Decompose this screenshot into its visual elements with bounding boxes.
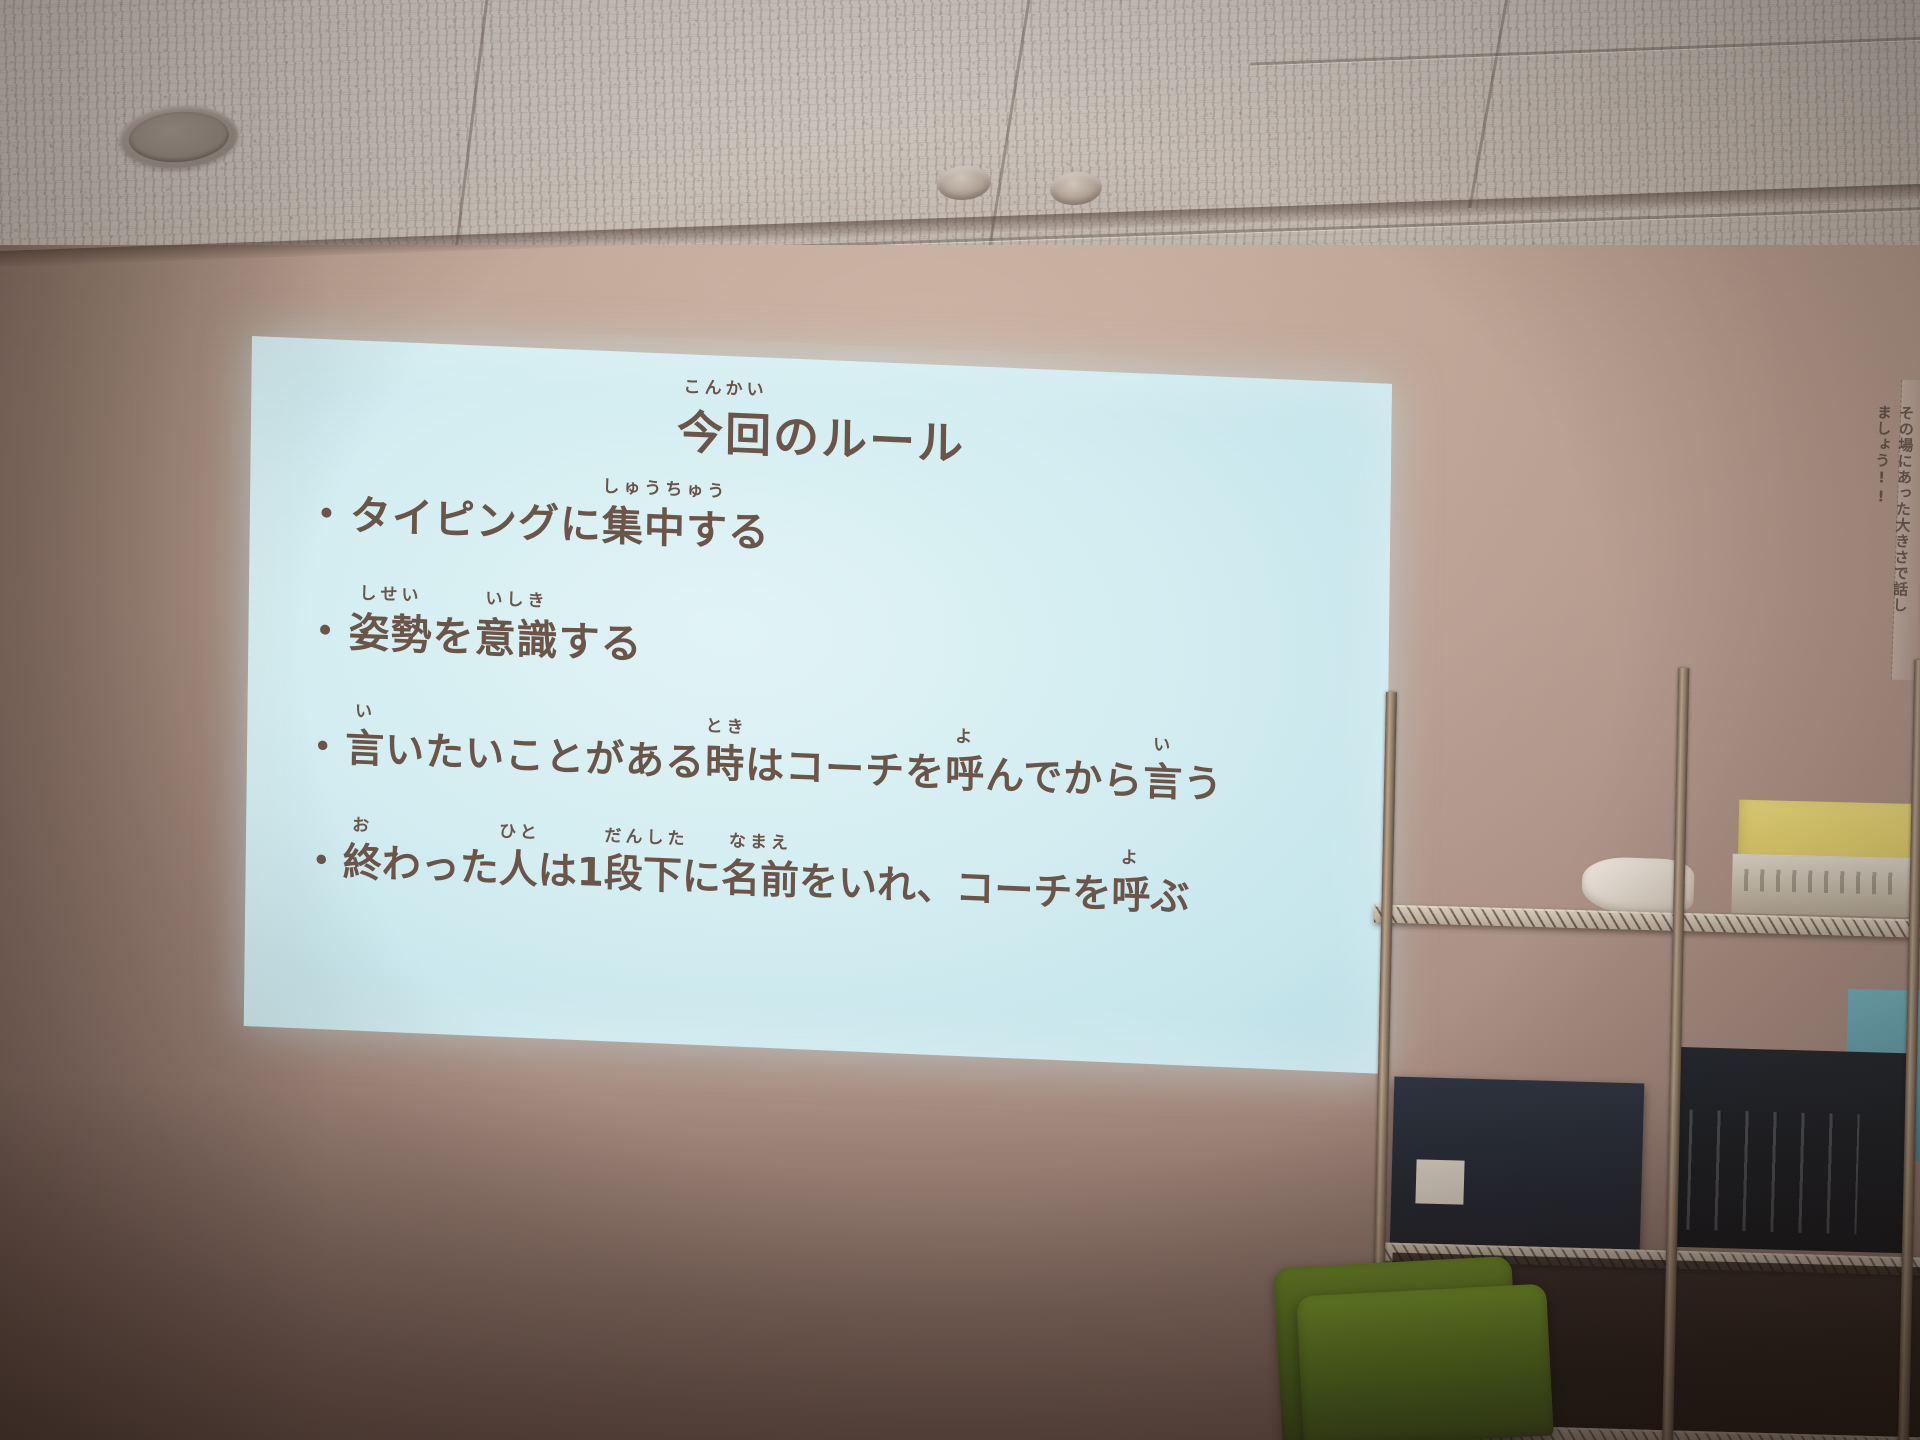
bullet-1-ruby-group: しゅうちゅう集中 bbox=[602, 501, 687, 556]
bullet-2-seg-3: する bbox=[558, 617, 643, 669]
bullet-4-seg-9: ぶ bbox=[1150, 874, 1190, 921]
bullet-3-ruby-group-d: い言 bbox=[1143, 758, 1184, 808]
bullet-4-seg-2: 人 bbox=[499, 847, 539, 894]
bullet-3-seg-7: う bbox=[1183, 761, 1224, 808]
bullet-4-furigana-a: お bbox=[343, 815, 382, 838]
bullet-3-seg-3: はコーチを bbox=[745, 742, 946, 795]
bullet-4-seg-7: をいれ、コーチを bbox=[799, 859, 1112, 917]
bullet-3-seg-6: 言 bbox=[1143, 759, 1184, 806]
bullet-4-ruby-group-e: よ呼 bbox=[1111, 872, 1151, 922]
projection-screen: こんかい 今回 のルール ・タイピングにしゅうちゅう集中する ・しせい姿勢をいし… bbox=[244, 336, 1392, 1074]
bullet-item-1: ・タイピングにしゅうちゅう集中する bbox=[306, 488, 1369, 584]
bullet-4-seg-8: 呼 bbox=[1111, 873, 1151, 920]
title-furigana: こんかい bbox=[677, 372, 773, 401]
bullet-3-furigana-d: い bbox=[1144, 734, 1184, 757]
slide-bullet-list: ・タイピングにしゅうちゅう集中する ・しせい姿勢をいしき意識する ・い言いたいこ… bbox=[301, 488, 1369, 997]
bullet-item-3: ・い言いたいことがあるとき時はコーチをよ呼んでからい言う bbox=[303, 723, 1366, 816]
bullet-2-seg-0: 姿勢 bbox=[348, 608, 433, 660]
bullet-4-seg-6: 名前 bbox=[721, 856, 800, 904]
title-ruby-group: こんかい 今回 bbox=[677, 396, 774, 466]
bullet-4-seg-1: わった bbox=[381, 842, 499, 892]
bullet-3-seg-4: 呼 bbox=[945, 751, 986, 798]
bullet-marker: ・ bbox=[301, 839, 341, 886]
bullet-1-seg-0: タイピングに bbox=[350, 491, 603, 550]
bullet-4-ruby-group-c: だんした段下 bbox=[604, 850, 683, 902]
bullet-4-seg-3: は1 bbox=[538, 849, 605, 897]
bullet-2-seg-1: を bbox=[432, 612, 475, 662]
bullet-3-seg-2: 時 bbox=[705, 741, 746, 788]
bullet-4-furigana-e: よ bbox=[1112, 848, 1151, 871]
bullet-1-seg-1: 集中 bbox=[602, 502, 687, 554]
bullet-3-furigana-c: よ bbox=[945, 726, 985, 749]
bullet-4-furigana-b: ひと bbox=[499, 822, 538, 845]
slide-title: こんかい 今回 のルール bbox=[251, 378, 1392, 492]
photo-scene: こんかい 今回 のルール ・タイピングにしゅうちゅう集中する ・しせい姿勢をいし… bbox=[0, 0, 1920, 1440]
screen-surface: こんかい 今回 のルール ・タイピングにしゅうちゅう集中する ・しせい姿勢をいし… bbox=[244, 336, 1392, 1074]
bullet-1-seg-2: する bbox=[686, 505, 771, 557]
bullet-1-furigana: しゅうちゅう bbox=[602, 477, 686, 502]
bullet-3-ruby-group-b: とき時 bbox=[705, 740, 746, 790]
bullet-4-seg-5: に bbox=[682, 855, 722, 902]
bullet-item-4: ・お終わったひと人は1だんした段下になまえ名前をいれ、コーチをよ呼ぶ bbox=[301, 838, 1364, 931]
shelf-item-white-carton bbox=[1731, 854, 1920, 918]
bullet-4-furigana-d: なまえ bbox=[721, 831, 799, 856]
bullet-3-ruby-group-c: よ呼 bbox=[945, 750, 986, 800]
bullet-2-ruby-group-a: しせい姿勢 bbox=[348, 607, 433, 662]
bullet-4-furigana-c: だんした bbox=[604, 826, 682, 851]
bullet-3-ruby-group-a: い言 bbox=[345, 725, 386, 775]
bullet-4-seg-0: 終 bbox=[342, 840, 382, 887]
bullet-3-seg-5: んでから bbox=[985, 752, 1144, 804]
floor-shadow bbox=[0, 1080, 1920, 1440]
bullet-3-furigana-a: い bbox=[345, 701, 385, 724]
title-rest: のルール bbox=[773, 409, 966, 471]
bullet-4-ruby-group-b: ひと人 bbox=[498, 846, 538, 896]
bullet-2-furigana-b: いしき bbox=[475, 589, 559, 614]
wall-poster-text: その場にあった大きさで話しましょう!! bbox=[1814, 402, 1917, 615]
bullet-marker: ・ bbox=[303, 724, 344, 771]
title-base: 今回 bbox=[677, 405, 774, 463]
bullet-4-seg-4: 段下 bbox=[604, 851, 683, 899]
bullet-2-seg-2: 意識 bbox=[474, 614, 559, 666]
bullet-3-seg-0: 言 bbox=[345, 726, 386, 773]
bullet-4-ruby-group-d: なまえ名前 bbox=[721, 855, 800, 907]
bullet-3-furigana-b: とき bbox=[705, 716, 745, 739]
bullet-3-seg-1: いたいことがある bbox=[385, 727, 706, 785]
bullet-2-furigana-a: しせい bbox=[349, 583, 433, 608]
bullet-marker: ・ bbox=[304, 607, 347, 657]
bullet-2-ruby-group-b: いしき意識 bbox=[474, 613, 559, 668]
bullet-marker: ・ bbox=[306, 489, 349, 539]
bullet-4-ruby-group-a: お終 bbox=[342, 839, 382, 889]
bullet-item-2: ・しせい姿勢をいしき意識する bbox=[304, 606, 1367, 702]
